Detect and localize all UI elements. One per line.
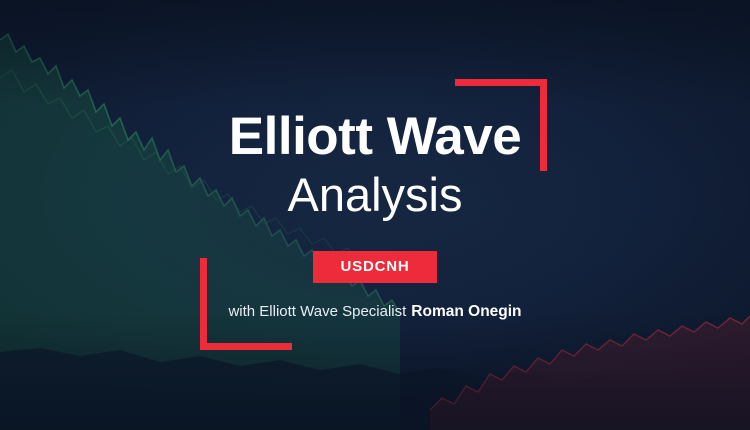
byline: with Elliott Wave SpecialistRoman Onegin <box>228 303 521 321</box>
page-title: Elliott Wave <box>229 110 521 163</box>
specialist-name: Roman Onegin <box>411 303 521 320</box>
instrument-badge: USDCNH <box>313 251 438 283</box>
banner-content: Elliott Wave Analysis USDCNH with Elliot… <box>0 0 750 430</box>
banner-canvas: Elliott Wave Analysis USDCNH with Elliot… <box>0 0 750 430</box>
page-subtitle: Analysis <box>287 171 462 218</box>
byline-prefix: with Elliott Wave Specialist <box>228 303 406 320</box>
